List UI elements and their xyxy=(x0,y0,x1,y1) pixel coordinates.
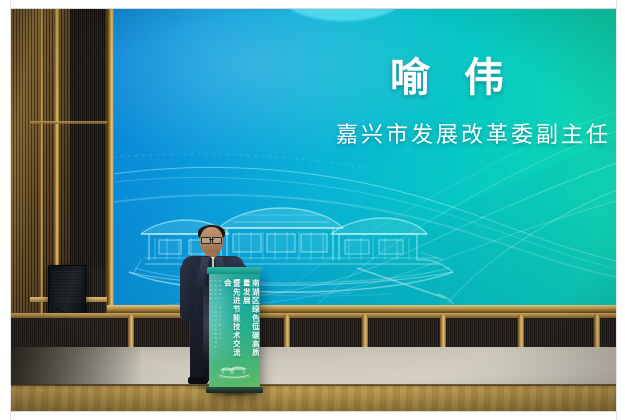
podium-base xyxy=(206,387,263,393)
podium-panel: 南湖区绿色低碳高质量发展 暨先进节能技术交流会 NANHU DISTRICT G… xyxy=(209,271,260,393)
stage-edge-texture xyxy=(10,385,618,411)
podium-boat-emblem-icon xyxy=(217,365,251,379)
arm-left xyxy=(180,263,195,321)
glasses-bridge xyxy=(209,239,214,240)
gold-rail-upper xyxy=(30,121,116,124)
eyeglasses-icon xyxy=(201,237,222,242)
podium-line-sub: NANHU DISTRICT GREEN LOW-CARBON FORUM xyxy=(209,279,223,365)
podium-top-surface xyxy=(207,267,262,274)
speaker-name-text: 喻 伟 xyxy=(390,45,516,103)
podium-line-1: 南湖区绿色低碳高质量发展 xyxy=(242,279,260,365)
photo-border-right xyxy=(616,0,625,420)
stage-front-edge xyxy=(10,385,618,411)
stage-scene: 喻 伟 嘉兴市发展改革委副主任 xyxy=(10,9,618,411)
screen-frame-left xyxy=(107,9,114,311)
lower-wall-gold-rail xyxy=(10,313,618,318)
speaker-grill xyxy=(52,270,82,302)
stage-left-shadow xyxy=(10,347,140,387)
podium-line-2: 暨先进节能技术交流会 xyxy=(223,279,241,365)
podium-signage: 南湖区绿色低碳高质量发展 暨先进节能技术交流会 NANHU DISTRICT G… xyxy=(209,279,260,365)
photo-border-left xyxy=(0,0,11,420)
photo-border-bottom xyxy=(0,411,625,420)
photo-border-top xyxy=(0,0,625,9)
photo-frame: 喻 伟 嘉兴市发展改革委副主任 xyxy=(0,0,625,420)
speaker-title-text: 嘉兴市发展改革委副主任 xyxy=(336,117,611,149)
shoe-left xyxy=(188,377,208,384)
stage-edge-shadow-line xyxy=(10,384,618,386)
